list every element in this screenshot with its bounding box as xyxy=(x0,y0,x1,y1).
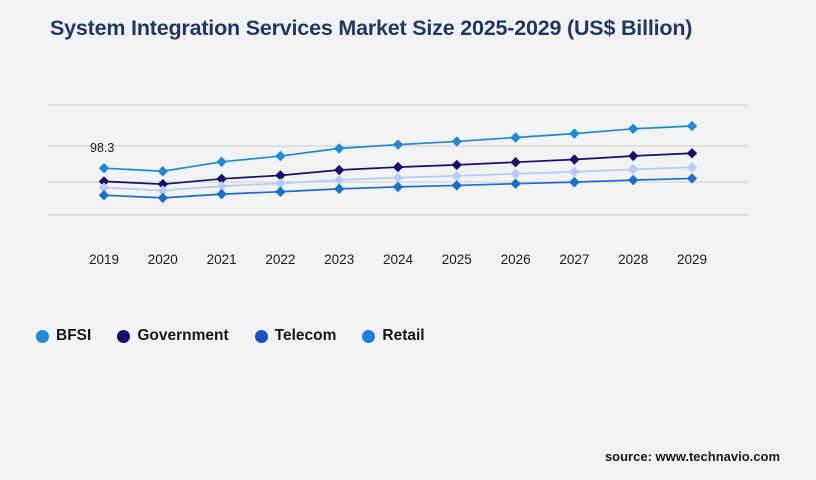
data-point[interactable] xyxy=(334,184,344,194)
data-point[interactable] xyxy=(569,177,579,187)
legend-item-bfsi[interactable]: BFSI xyxy=(36,327,91,345)
legend-marker-icon xyxy=(362,330,375,343)
line-chart-svg xyxy=(48,96,748,224)
legend-label: Telecom xyxy=(275,327,337,345)
legend-item-government[interactable]: Government xyxy=(117,327,228,345)
data-point[interactable] xyxy=(216,157,226,167)
legend-label: Government xyxy=(137,327,228,345)
x-axis-tick-label: 2020 xyxy=(148,252,178,267)
data-point[interactable] xyxy=(216,189,226,199)
data-point[interactable] xyxy=(99,163,109,173)
chart-page: System Integration Services Market Size … xyxy=(0,0,816,480)
x-axis-tick-label: 2024 xyxy=(383,252,413,267)
data-point[interactable] xyxy=(334,175,344,185)
legend-label: Retail xyxy=(382,327,424,345)
data-point[interactable] xyxy=(393,139,403,149)
chart-legend: BFSIGovernmentTelecomRetail xyxy=(36,324,451,348)
x-axis-tick-label: 2028 xyxy=(618,252,648,267)
data-point[interactable] xyxy=(569,128,579,138)
page-title: System Integration Services Market Size … xyxy=(50,14,770,42)
data-point[interactable] xyxy=(275,151,285,161)
data-point[interactable] xyxy=(628,124,638,134)
x-axis-tick-label: 2029 xyxy=(677,252,707,267)
data-label: 98.3 xyxy=(90,141,114,155)
x-axis: 2019202020212022202320242025202620272028… xyxy=(48,252,748,274)
data-point[interactable] xyxy=(158,166,168,176)
data-point[interactable] xyxy=(687,162,697,172)
data-point[interactable] xyxy=(687,121,697,131)
x-axis-tick-label: 2025 xyxy=(442,252,472,267)
data-point[interactable] xyxy=(158,193,168,203)
data-point[interactable] xyxy=(452,160,462,170)
legend-marker-icon xyxy=(117,330,130,343)
data-point[interactable] xyxy=(510,179,520,189)
x-axis-tick-label: 2026 xyxy=(501,252,531,267)
legend-marker-icon xyxy=(255,330,268,343)
data-point[interactable] xyxy=(510,157,520,167)
data-point[interactable] xyxy=(628,151,638,161)
legend-marker-icon xyxy=(36,330,49,343)
legend-item-retail[interactable]: Retail xyxy=(362,327,424,345)
data-point[interactable] xyxy=(99,190,109,200)
data-point[interactable] xyxy=(275,187,285,197)
data-point[interactable] xyxy=(334,165,344,175)
x-axis-tick-label: 2027 xyxy=(559,252,589,267)
plot-area xyxy=(48,96,748,224)
data-point[interactable] xyxy=(452,136,462,146)
data-point[interactable] xyxy=(628,175,638,185)
data-point[interactable] xyxy=(510,132,520,142)
x-axis-tick-label: 2021 xyxy=(207,252,237,267)
data-point[interactable] xyxy=(569,167,579,177)
data-point[interactable] xyxy=(452,171,462,181)
legend-label: BFSI xyxy=(56,327,91,345)
data-point[interactable] xyxy=(628,164,638,174)
source-attribution: source: www.technavio.com xyxy=(605,449,780,464)
x-axis-tick-label: 2022 xyxy=(265,252,295,267)
data-point[interactable] xyxy=(510,169,520,179)
data-point[interactable] xyxy=(393,172,403,182)
data-point[interactable] xyxy=(393,182,403,192)
x-axis-tick-label: 2023 xyxy=(324,252,354,267)
legend-item-telecom[interactable]: Telecom xyxy=(255,327,337,345)
data-point[interactable] xyxy=(569,154,579,164)
x-axis-tick-label: 2019 xyxy=(89,252,119,267)
data-point[interactable] xyxy=(393,162,403,172)
data-point[interactable] xyxy=(687,148,697,158)
data-point[interactable] xyxy=(334,143,344,153)
